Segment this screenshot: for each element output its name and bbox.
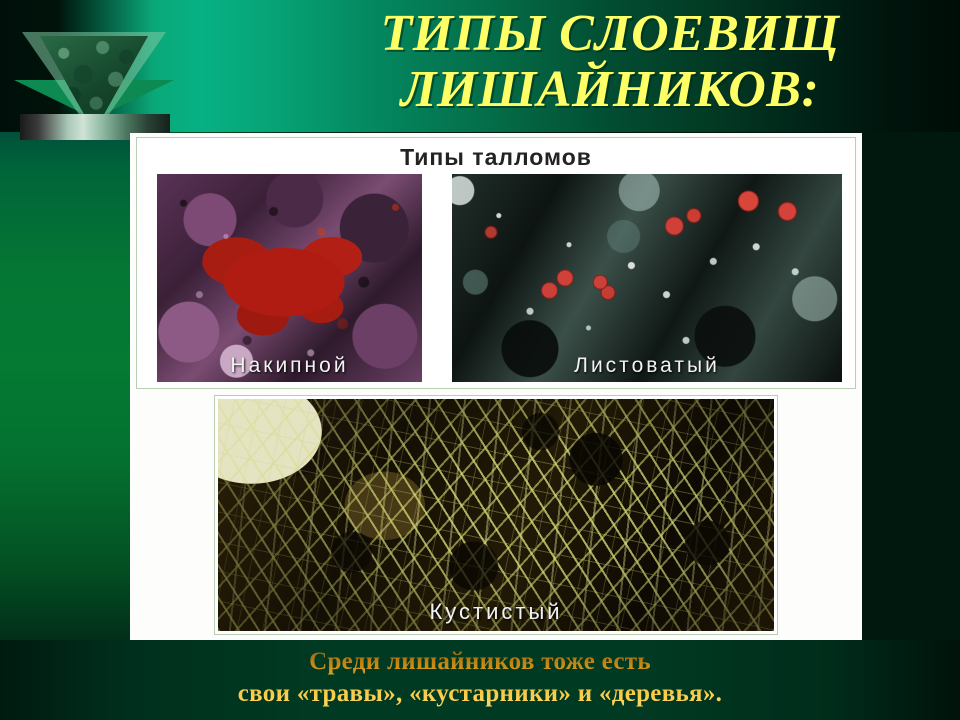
photo-fruticose-caption: Кустистый bbox=[218, 599, 774, 625]
page-title-line1: ТИПЫ СЛОЕВИЩ bbox=[381, 5, 840, 62]
page-title: ТИПЫ СЛОЕВИЩ ЛИШАЙНИКОВ: bbox=[250, 6, 960, 118]
photo-crustose-texture bbox=[157, 174, 422, 382]
photo-foliose-texture bbox=[452, 174, 842, 382]
photo-crustose: Накипной bbox=[157, 174, 422, 382]
slide-root: ТИПЫ СЛОЕВИЩ ЛИШАЙНИКОВ: Типы талломов Н… bbox=[0, 0, 960, 720]
photo-foliose-caption: Листоватый bbox=[452, 354, 842, 378]
panel-heading: Типы талломов bbox=[137, 144, 855, 171]
photo-foliose: Листоватый bbox=[452, 174, 842, 382]
photo-crustose-caption: Накипной bbox=[157, 354, 422, 378]
thallus-types-top-group: Типы талломов Накипной Листоватый bbox=[136, 137, 856, 389]
page-title-line2: ЛИШАЙНИКОВ: bbox=[250, 62, 960, 118]
content-panel: Типы талломов Накипной Листоватый Кустис… bbox=[130, 133, 862, 640]
photo-fruticose-shadows bbox=[218, 399, 774, 631]
footer-caption-line2: свои «травы», «кустарники» и «деревья». bbox=[0, 678, 960, 710]
photo-fruticose: Кустистый bbox=[218, 399, 774, 631]
footer-caption-line1: Среди лишайников тоже есть bbox=[0, 646, 960, 678]
background-left-column bbox=[0, 132, 150, 720]
footer-caption: Среди лишайников тоже есть свои «травы»,… bbox=[0, 646, 960, 710]
thallus-types-bottom-group: Кустистый bbox=[214, 395, 778, 635]
